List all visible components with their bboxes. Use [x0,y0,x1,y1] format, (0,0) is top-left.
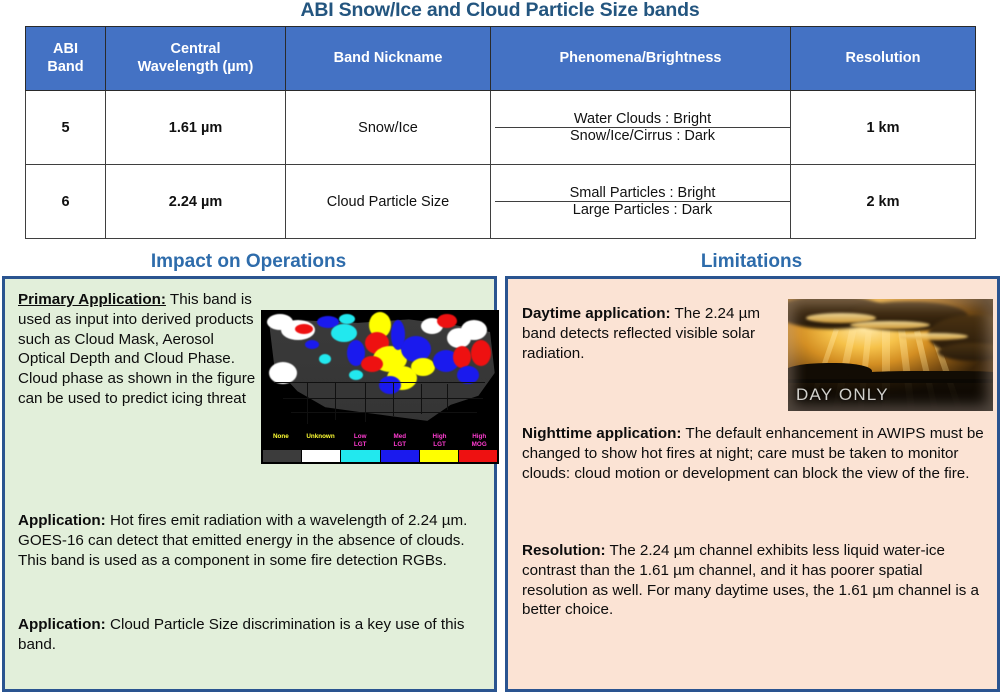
impact-on-operations-panel: None Unknown Low LGT Med LGT [2,276,497,692]
state-border [291,412,477,413]
state-border [335,382,336,420]
legend-label-line1: Med [380,433,420,441]
sunset-cloud-lit-edge [898,333,968,340]
limitations-resolution-label: Resolution: [522,542,606,559]
legend-label-line2: None [261,433,301,441]
cell-wavelength: 2.24 µm [106,165,286,239]
col-header-central-wavelength: Central Wavelength (µm) [106,27,286,91]
state-border [365,382,366,422]
cell-nickname: Cloud Particle Size [286,165,491,239]
page-title: ABI Snow/Ice and Cloud Particle Size ban… [0,0,1000,22]
impact-primary-application-label: Primary Application: [18,291,166,308]
limitations-nighttime-label: Nighttime application: [522,425,681,442]
state-border [447,384,448,410]
phase-blob [269,362,297,384]
legend-label-line2: LGT [380,441,420,449]
legend-swatches [263,450,497,462]
phenomena-sub-dark: Snow/Ice/Cirrus : Dark [495,128,790,144]
sunset-cloud-lit-edge [850,321,930,329]
col-header-abi-band: ABI Band [26,27,106,91]
limitations-nighttime-paragraph: Nighttime application: The default enhan… [522,424,990,483]
phase-blob [339,314,355,324]
section-heading-limitations: Limitations [503,251,1000,273]
legend-label-line2: LGT [420,441,460,449]
cell-nickname: Snow/Ice [286,91,491,165]
phase-blob [471,340,491,366]
state-border [393,382,394,416]
cell-phenomena: Water Clouds : Bright Snow/Ice/Cirrus : … [491,91,791,165]
table-row: 5 1.61 µm Snow/Ice Water Clouds : Bright… [26,91,976,165]
phase-blob [437,314,457,328]
phase-blob [411,358,435,376]
impact-application-fires-label: Application: [18,512,106,529]
phase-blob [361,356,383,372]
cell-band: 5 [26,91,106,165]
legend-label-med-lgt: Med LGT [380,432,420,449]
col-header-resolution: Resolution [791,27,976,91]
legend-label-line2: Unknown [301,433,341,441]
col-header-band-nickname: Band Nickname [286,27,491,91]
legend-swatch-high-mog [459,450,497,462]
legend-swatch-low-lgt [341,450,379,462]
abi-band-table: ABI Band Central Wavelength (µm) Band Ni… [25,26,976,239]
col-header-wavelength-line2: Wavelength (µm) [138,59,254,75]
table-header: ABI Band Central Wavelength (µm) Band Ni… [26,27,976,91]
limitations-daytime-paragraph: Daytime application: The 2.24 µm band de… [522,304,780,363]
legend-swatch-unknown [302,450,340,462]
legend-swatch-none [263,450,301,462]
legend-swatch-med-lgt [381,450,419,462]
legend-label-line2: LGT [340,441,380,449]
table-row: 6 2.24 µm Cloud Particle Size Small Part… [26,165,976,239]
impact-application-fires-paragraph: Application: Hot fires emit radiation wi… [18,511,486,570]
phase-blob [453,346,471,368]
cell-resolution: 1 km [791,91,976,165]
table-header-row: ABI Band Central Wavelength (µm) Band Ni… [26,27,976,91]
legend-label-unknown: Unknown [301,432,341,449]
legend-label-low-lgt: Low LGT [340,432,380,449]
cloud-phase-legend: None Unknown Low LGT Med LGT [261,432,499,464]
legend-label-line2: MOG [459,441,499,449]
legend-label-line1: High [459,433,499,441]
sunset-day-only-figure: DAY ONLY [788,299,993,411]
phase-blob [305,340,319,349]
limitations-daytime-label: Daytime application: [522,305,671,322]
section-heading-impact-on-operations: Impact on Operations [0,251,497,273]
state-border [283,398,483,399]
cloud-phase-map [261,310,499,432]
col-header-abi-band-line1: ABI [53,41,78,57]
state-border [421,384,422,414]
phase-blob [319,354,331,364]
cloud-phase-figure: None Unknown Low LGT Med LGT [261,310,499,464]
cell-wavelength: 1.61 µm [106,91,286,165]
cell-band: 6 [26,165,106,239]
impact-primary-application-paragraph: Primary Application: This band is used a… [18,290,258,409]
cell-resolution: 2 km [791,165,976,239]
col-header-abi-band-line2: Band [47,59,83,75]
table-body: 5 1.61 µm Snow/Ice Water Clouds : Bright… [26,91,976,239]
legend-swatch-high-lgt [420,450,458,462]
impact-primary-application-body: This band is used as input into derived … [18,291,255,407]
state-border [307,382,308,424]
legend-label-line1: High [420,433,460,441]
limitations-resolution-paragraph: Resolution: The 2.24 µm channel exhibits… [522,541,990,620]
phenomena-sub-dark: Large Particles : Dark [495,202,790,218]
legend-label-high-mog: High MOG [459,432,499,449]
legend-label-none: None [261,432,301,449]
legend-label-high-lgt: High LGT [420,432,460,449]
col-header-wavelength-line1: Central [171,41,221,57]
slide-root: ABI Snow/Ice and Cloud Particle Size ban… [0,0,1000,697]
col-header-phenomena-brightness: Phenomena/Brightness [491,27,791,91]
phase-blob [349,370,363,380]
phenomena-sub-bright: Small Particles : Bright [495,185,790,202]
impact-application-particle-size-paragraph: Application: Cloud Particle Size discrim… [18,615,486,655]
legend-labels: None Unknown Low LGT Med LGT [261,432,499,449]
phase-blob [461,320,487,340]
cell-phenomena: Small Particles : Bright Large Particles… [491,165,791,239]
legend-label-line1: Low [340,433,380,441]
impact-application-particle-size-label: Application: [18,616,106,633]
phenomena-sub-bright: Water Clouds : Bright [495,111,790,128]
phase-blob [295,324,313,334]
limitations-panel: DAY ONLY Daytime application: The 2.24 µ… [505,276,1000,692]
sunset-caption-text: DAY ONLY [796,385,889,405]
phase-blob [379,376,401,394]
